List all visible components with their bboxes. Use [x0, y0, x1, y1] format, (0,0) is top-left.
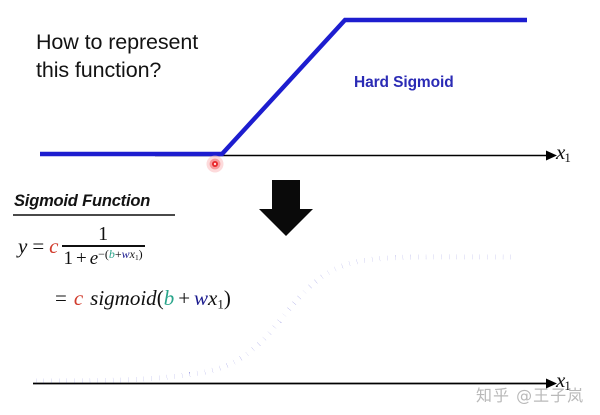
formula-arg-plus: + [178, 286, 190, 310]
formula-arg-close-paren: ) [224, 286, 231, 310]
formula-arg-b: b [164, 286, 175, 310]
formula-exp-minus: − [98, 247, 105, 261]
bottom-chart-group [33, 257, 557, 389]
question-line-2: this function? [36, 56, 266, 84]
formula-exp-w: w [122, 247, 130, 261]
question-text: How to represent this function? [36, 28, 266, 85]
formula-y: y [18, 234, 27, 259]
formula-exponent: −(b+wx1) [98, 247, 142, 261]
formula-line-1: y = c 1 1+e−(b+wx1) [18, 224, 145, 269]
slide-canvas: How to represent this function? Hard Sig… [0, 0, 600, 415]
formula-arg-w: w [194, 286, 208, 310]
formula-sigmoid-name: sigmoid [90, 286, 157, 310]
top-x-axis-label-subscript: 1 [564, 150, 571, 165]
breakpoint-marker [207, 156, 224, 173]
question-line-1: How to represent [36, 28, 266, 56]
top-x-axis-label: x1 [556, 140, 571, 166]
formula-arg-open-paren: ( [157, 286, 164, 310]
formula-arg-x: x [208, 286, 217, 310]
formula-line-2: =csigmoid(b+wx1) [55, 286, 231, 313]
formula-equals-2: = [55, 286, 67, 310]
formula-numerator: 1 [92, 224, 114, 245]
hard-sigmoid-label: Hard Sigmoid [354, 74, 454, 92]
formula-coefficient-c-1: c [49, 234, 58, 259]
sigmoid-function-title-underline [13, 214, 175, 216]
sigmoid-curve [36, 257, 515, 381]
formula-den-plus: + [76, 248, 87, 269]
formula-equals-1: = [32, 234, 44, 259]
formula-coefficient-c-2: c [74, 286, 83, 310]
bottom-x-axis-label: x1 [556, 368, 571, 394]
formula-den-e: e [90, 248, 98, 269]
formula-exp-plus: + [115, 247, 122, 261]
formula-denominator: 1+e−(b+wx1) [62, 247, 145, 269]
formula-den-one: 1 [64, 248, 74, 269]
sigmoid-function-title: Sigmoid Function [14, 192, 150, 211]
formula-fraction: 1 1+e−(b+wx1) [62, 224, 145, 269]
formula-exp-close-paren: ) [139, 247, 143, 261]
bottom-x-axis-label-subscript: 1 [564, 378, 571, 393]
down-arrow-icon [259, 180, 313, 236]
